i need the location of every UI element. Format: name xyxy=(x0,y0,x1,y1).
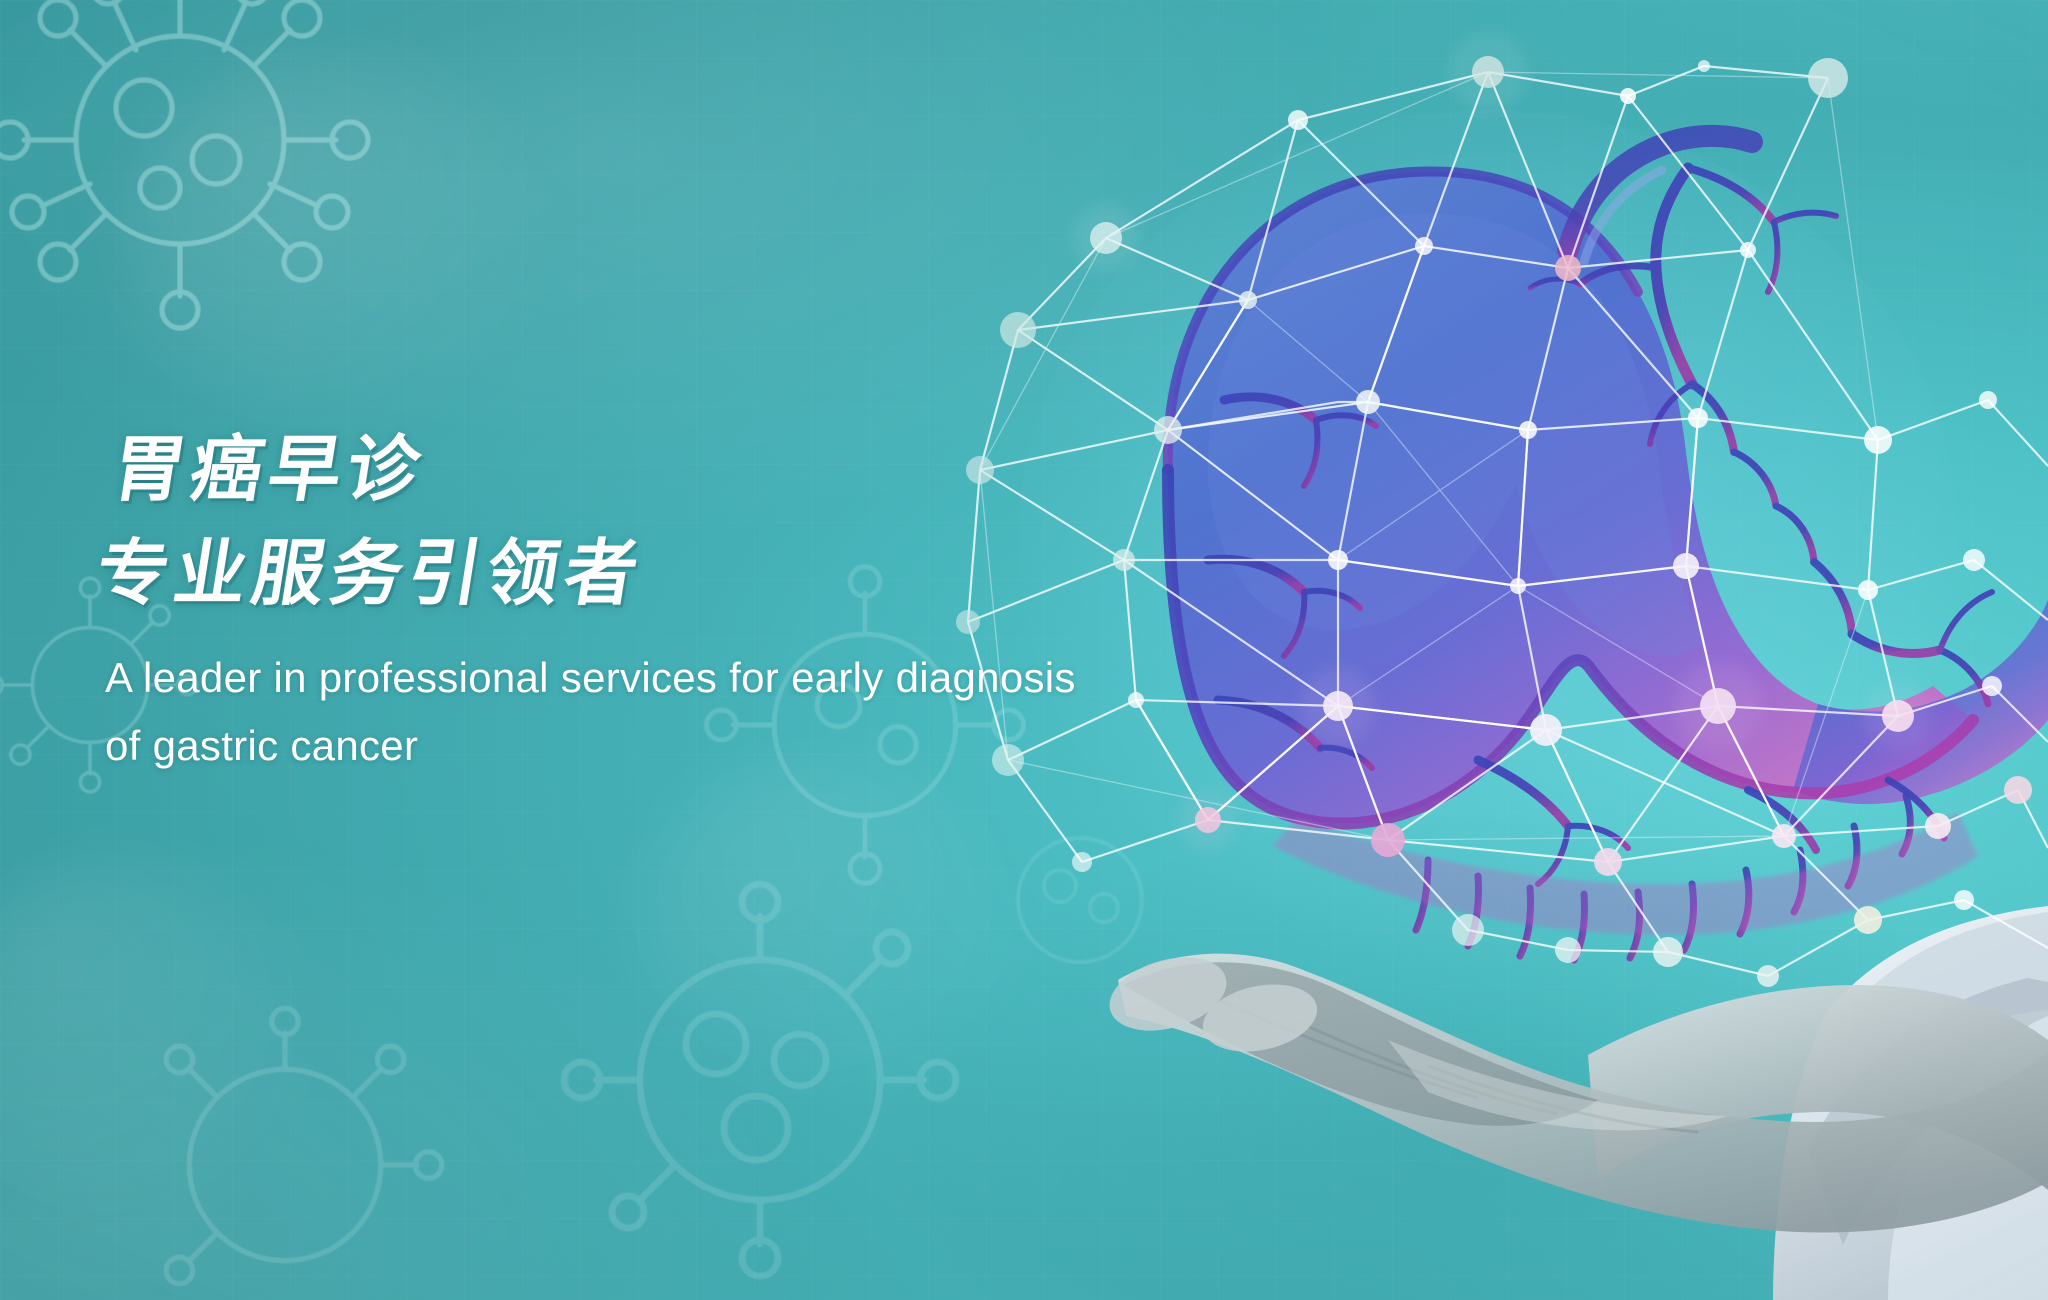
banner-root: 胃癌早诊 专业服务引领者 A leader in professional se… xyxy=(0,0,2048,1300)
vignette-overlay xyxy=(0,0,2048,1300)
